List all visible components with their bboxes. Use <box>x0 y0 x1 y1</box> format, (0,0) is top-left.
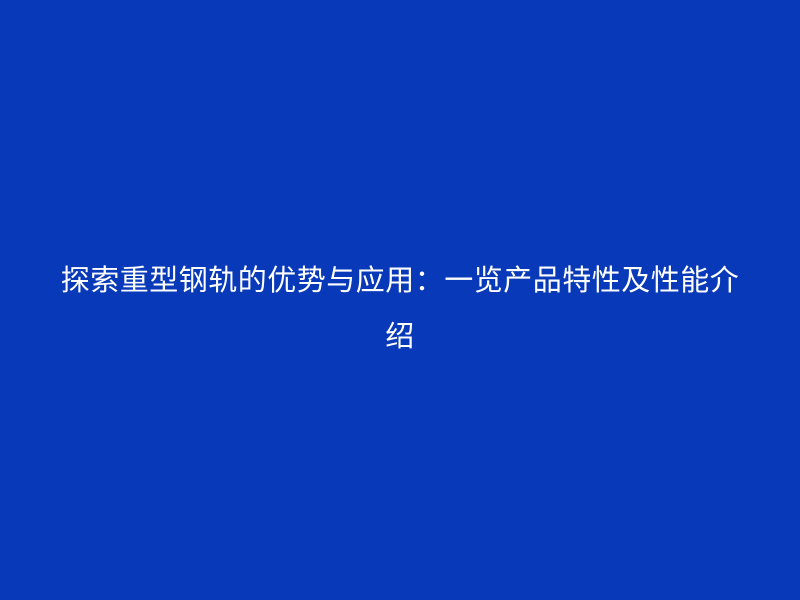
title-card: 探索重型钢轨的优势与应用：一览产品特性及性能介绍 <box>0 0 800 600</box>
page-title: 探索重型钢轨的优势与应用：一览产品特性及性能介绍 <box>50 252 750 364</box>
headline-block: 探索重型钢轨的优势与应用：一览产品特性及性能介绍 <box>50 252 750 364</box>
